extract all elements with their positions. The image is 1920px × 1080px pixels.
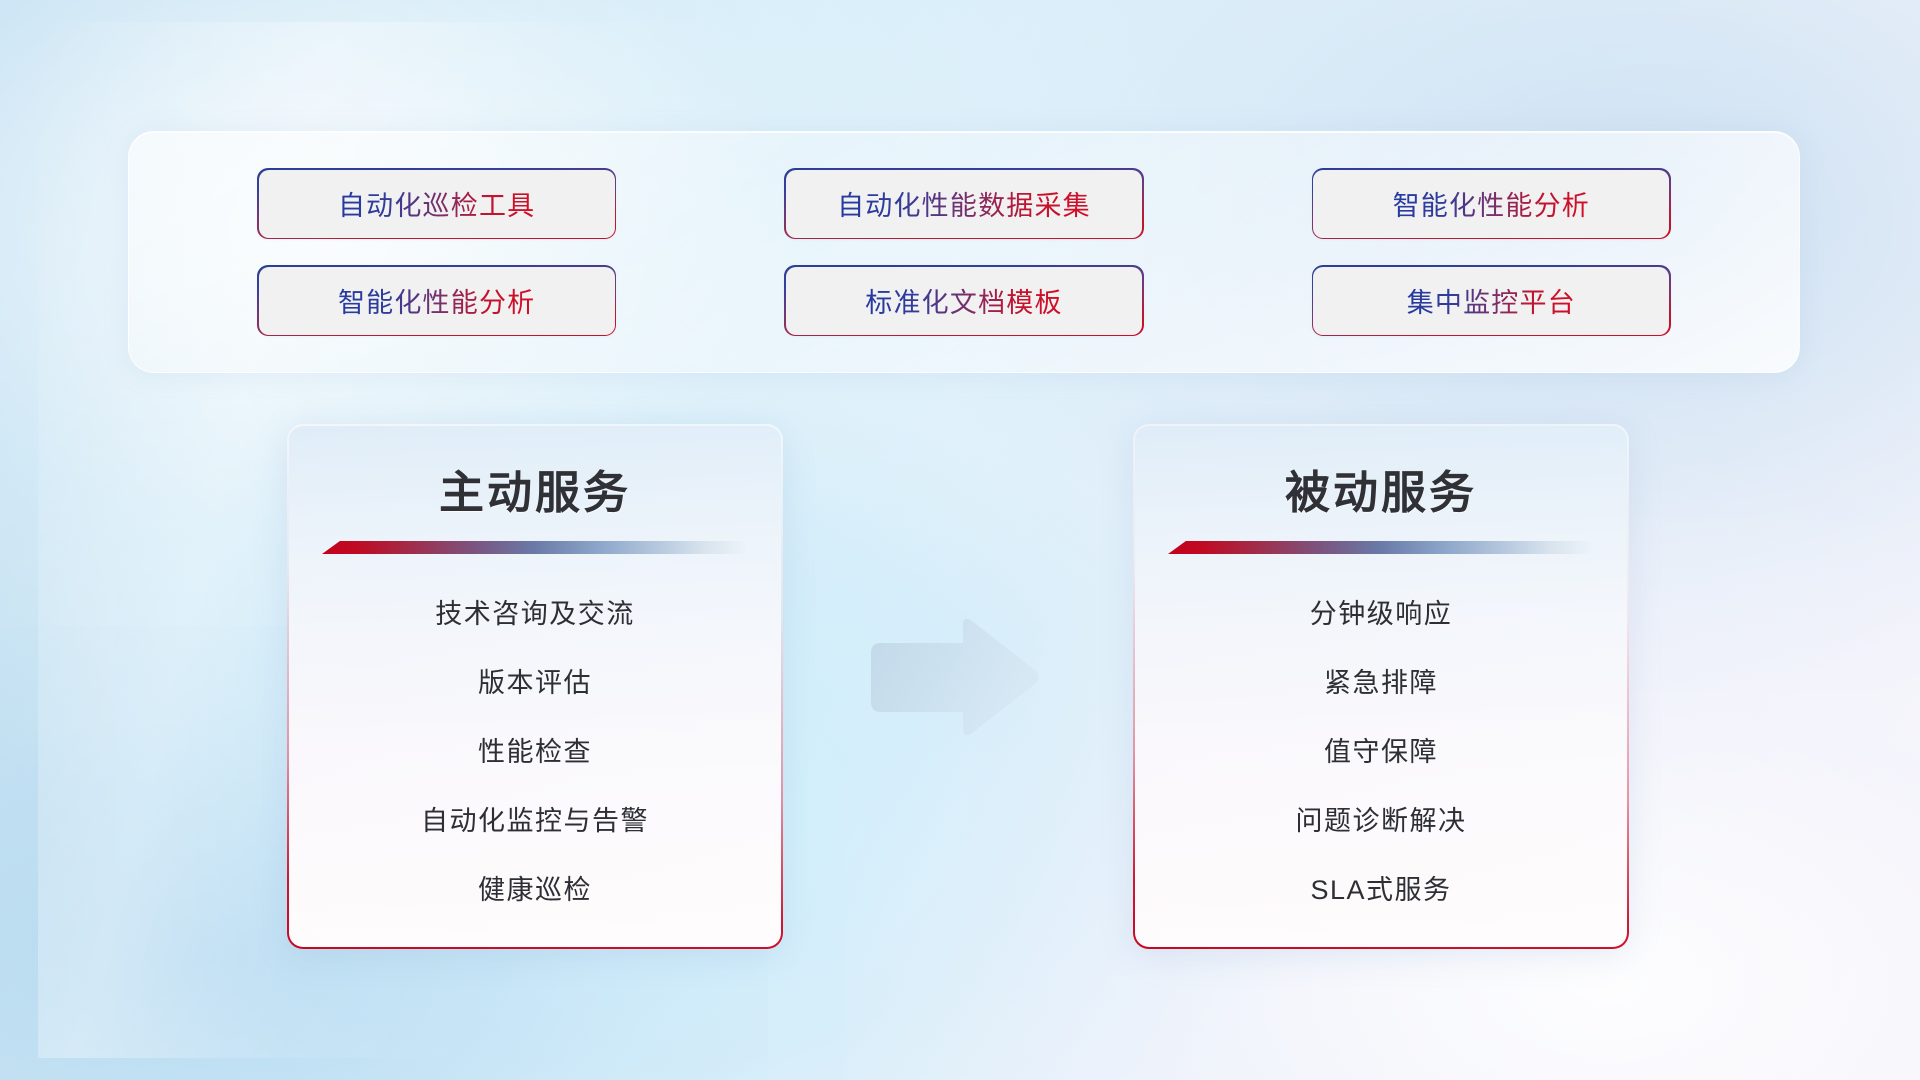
capability-pill-label: 自动化巡检工具 (338, 184, 535, 223)
list-item: 自动化监控与告警 (421, 787, 649, 856)
title-underline-rule (1168, 541, 1594, 554)
list-item: 紧急排障 (1324, 649, 1438, 718)
service-item-list: 技术咨询及交流 版本评估 性能检查 自动化监控与告警 健康巡检 (289, 580, 781, 925)
capability-panel: 自动化巡检工具 自动化性能数据采集 智能化性能分析 智能化性能分析 标准化文档模… (128, 131, 1800, 373)
list-item: 健康巡检 (478, 856, 592, 925)
capability-pill-3[interactable]: 智能化性能分析 (1313, 170, 1669, 238)
list-item: 值守保障 (1324, 718, 1438, 787)
capability-pill-5[interactable]: 标准化文档模板 (786, 267, 1142, 335)
capability-pill-label: 自动化性能数据采集 (837, 184, 1091, 223)
title-underline-rule (322, 541, 748, 554)
service-card-title: 主动服务 (439, 456, 631, 521)
capability-pill-4[interactable]: 智能化性能分析 (259, 267, 615, 335)
service-card-proactive: 主动服务 技术咨询及交流 版本评估 性能检查 自动化监控与告警 健康巡检 (287, 424, 783, 949)
service-card-title: 被动服务 (1285, 456, 1477, 521)
list-item: 性能检查 (478, 718, 592, 787)
capability-pill-label: 智能化性能分析 (1393, 184, 1590, 223)
list-item: 问题诊断解决 (1296, 787, 1467, 856)
capability-pill-2[interactable]: 自动化性能数据采集 (786, 170, 1142, 238)
list-item: 技术咨询及交流 (435, 580, 635, 649)
service-card-body: 被动服务 分钟级响应 紧急排障 值守保障 问题诊断解决 SLA式服务 (1135, 426, 1627, 947)
capability-pill-label: 智能化性能分析 (338, 281, 535, 320)
list-item: 版本评估 (478, 649, 592, 718)
capability-pill-grid: 自动化巡检工具 自动化性能数据采集 智能化性能分析 智能化性能分析 标准化文档模… (129, 132, 1799, 372)
list-item: SLA式服务 (1310, 856, 1451, 925)
list-item: 分钟级响应 (1310, 580, 1453, 649)
capability-pill-label: 标准化文档模板 (865, 281, 1062, 320)
service-card-reactive: 被动服务 分钟级响应 紧急排障 值守保障 问题诊断解决 SLA式服务 (1133, 424, 1629, 949)
capability-pill-label: 集中监控平台 (1407, 281, 1576, 320)
capability-pill-1[interactable]: 自动化巡检工具 (259, 170, 615, 238)
arrow-right-icon (865, 615, 1040, 740)
service-card-body: 主动服务 技术咨询及交流 版本评估 性能检查 自动化监控与告警 健康巡检 (289, 426, 781, 947)
service-item-list: 分钟级响应 紧急排障 值守保障 问题诊断解决 SLA式服务 (1135, 580, 1627, 925)
capability-pill-6[interactable]: 集中监控平台 (1313, 267, 1669, 335)
